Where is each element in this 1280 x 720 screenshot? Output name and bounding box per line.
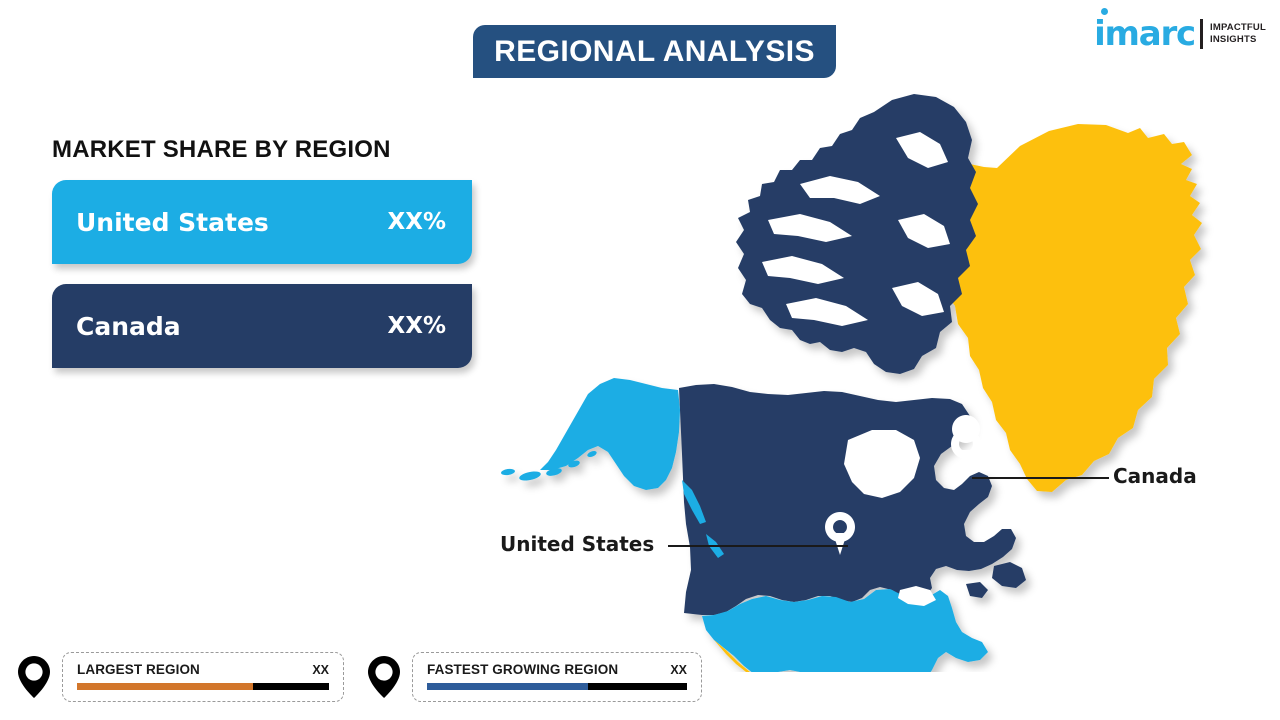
market-share-value: XX%	[387, 313, 446, 339]
location-pin-icon	[368, 656, 400, 698]
map-region-alaska[interactable]	[540, 378, 680, 490]
market-share-value: XX%	[387, 209, 446, 235]
leader-line-canada	[972, 477, 1109, 479]
slide-canvas: REGIONAL ANALYSIS imarc IMPACTFUL INSIGH…	[0, 0, 1280, 720]
legend-largest-region: LARGEST REGION XX	[18, 652, 344, 702]
map-pin-canada[interactable]	[951, 415, 981, 472]
market-share-row-united-states[interactable]: United States XX%	[52, 180, 472, 264]
legend-fastest-growing-region: FASTEST GROWING REGION XX	[368, 652, 702, 702]
legend-row: FASTEST GROWING REGION XX	[427, 662, 687, 677]
logo-wordmark: imarc	[1094, 17, 1195, 51]
logo-divider	[1200, 19, 1203, 49]
legend-progress-track	[77, 683, 329, 690]
legend-box-largest: LARGEST REGION XX	[62, 652, 344, 702]
page-title: REGIONAL ANALYSIS	[494, 35, 815, 69]
logo-tagline-line1: IMPACTFUL	[1210, 22, 1266, 34]
market-share-row-canada[interactable]: Canada XX%	[52, 284, 472, 368]
legend-title: FASTEST GROWING REGION	[427, 662, 618, 677]
legend-amount: XX	[312, 663, 329, 677]
logo-dot-icon	[1101, 8, 1108, 15]
map-region-united-states[interactable]	[702, 589, 988, 672]
leader-line-united-states	[668, 545, 848, 547]
map-label-united-states: United States	[500, 532, 654, 556]
map-svg	[500, 72, 1280, 672]
location-pin-icon	[18, 656, 50, 698]
logo-tagline-line2: INSIGHTS	[1210, 34, 1266, 46]
north-america-map	[500, 72, 1280, 672]
map-label-canada: Canada	[1113, 464, 1197, 488]
legend-box-fastest: FASTEST GROWING REGION XX	[412, 652, 702, 702]
market-share-heading: MARKET SHARE BY REGION	[52, 136, 482, 164]
market-share-label: United States	[76, 208, 269, 237]
page-title-banner: REGIONAL ANALYSIS	[473, 25, 836, 78]
legend-amount: XX	[670, 663, 687, 677]
legend-progress-fill	[427, 683, 588, 690]
market-share-panel: MARKET SHARE BY REGION United States XX%…	[52, 136, 482, 388]
legend-row: LARGEST REGION XX	[77, 662, 329, 677]
legend-progress-track	[427, 683, 687, 690]
market-share-label: Canada	[76, 312, 181, 341]
legend-title: LARGEST REGION	[77, 662, 200, 677]
logo-tagline: IMPACTFUL INSIGHTS	[1210, 22, 1266, 46]
legend-progress-fill	[77, 683, 253, 690]
logo-wordmark-text: imarc	[1094, 14, 1195, 54]
imarc-logo: imarc IMPACTFUL INSIGHTS	[1094, 14, 1266, 54]
